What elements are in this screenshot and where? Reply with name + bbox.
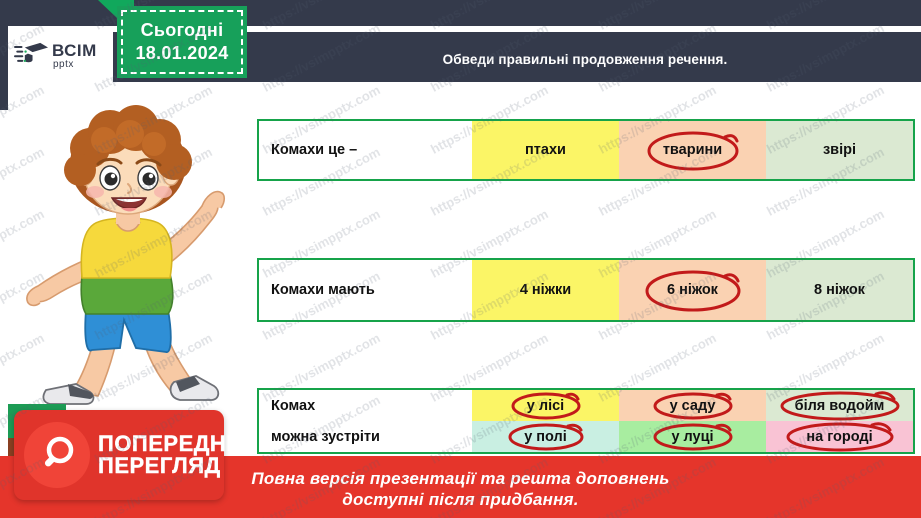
date-badge-date: 18.01.2024 — [135, 43, 228, 64]
table-subrow: Комах у лісі у саду — [259, 390, 913, 421]
option-label: птахи — [525, 142, 566, 158]
table-row: Комахи мають 4 ніжки 6 ніжок 8 ніжок — [257, 258, 915, 322]
option-cell-selected[interactable]: у полі — [472, 421, 619, 452]
option-cell-selected[interactable]: біля водойм — [766, 390, 913, 421]
option-label: у полі — [524, 429, 567, 445]
option-cell-selected[interactable]: на городі — [766, 421, 913, 452]
option-cell[interactable]: 4 ніжки — [472, 260, 619, 320]
row-prompt-line1: Комах — [259, 390, 472, 421]
row-prompt-line2: можна зустріти — [259, 421, 472, 452]
slide-title-bar: Обведи правильні продовження речення. — [257, 36, 913, 82]
preview-line-1: ПОПЕРЕДНІЙ — [98, 433, 249, 455]
table-row: Комах у лісі у саду — [257, 388, 915, 454]
preview-badge-text: ПОПЕРЕДНІЙ ПЕРЕГЛЯД — [98, 433, 249, 478]
brand-sub: pptx — [52, 60, 97, 70]
row-prompt: Комахи це – — [259, 121, 472, 179]
cartoon-boy-illustration — [24, 104, 236, 416]
banner-line-2: доступні після придбання. — [342, 490, 578, 510]
option-label: у лісі — [527, 398, 564, 414]
row-prompt: Комахи мають — [259, 260, 472, 320]
brand-logo: ВСІМ pptx — [8, 30, 113, 82]
option-cell-selected[interactable]: у лісі — [472, 390, 619, 421]
page-title: Обведи правильні продовження речення. — [443, 52, 728, 67]
option-label: у луці — [671, 429, 713, 445]
graduation-cap-icon — [14, 41, 48, 71]
option-cell-selected[interactable]: у саду — [619, 390, 766, 421]
option-label: 8 ніжок — [814, 282, 865, 298]
option-cell-selected[interactable]: у луці — [619, 421, 766, 452]
preview-badge: ПОПЕРЕДНІЙ ПЕРЕГЛЯД — [14, 410, 224, 500]
date-badge: Сьогодні 18.01.2024 — [117, 6, 247, 78]
brand-name: ВСІМ — [52, 42, 97, 59]
option-cell[interactable]: птахи — [472, 121, 619, 179]
table-subrow: можна зустріти у полі у луці — [259, 421, 913, 452]
option-label: тварини — [663, 142, 722, 158]
preview-line-2: ПЕРЕГЛЯД — [98, 455, 249, 477]
option-label: 6 ніжок — [667, 282, 718, 298]
banner-line-1: Повна версія презентації та решта доповн… — [251, 469, 669, 489]
option-label: звірі — [823, 142, 856, 158]
option-cell[interactable]: звірі — [766, 121, 913, 179]
option-label: біля водойм — [795, 398, 885, 414]
option-label: у саду — [670, 398, 716, 414]
option-cell[interactable]: 8 ніжок — [766, 260, 913, 320]
magnifier-icon — [24, 422, 90, 488]
date-badge-label: Сьогодні — [141, 20, 224, 41]
slide-canvas: ВСІМ pptx Сьогодні 18.01.2024 Обведи пра… — [0, 0, 921, 518]
option-label: 4 ніжки — [520, 282, 571, 298]
option-cell-selected[interactable]: тварини — [619, 121, 766, 179]
left-dark-strip — [0, 0, 8, 110]
table-row: Комахи це – птахи тварини звірі — [257, 119, 915, 181]
option-cell-selected[interactable]: 6 ніжок — [619, 260, 766, 320]
option-label: на городі — [806, 429, 872, 445]
